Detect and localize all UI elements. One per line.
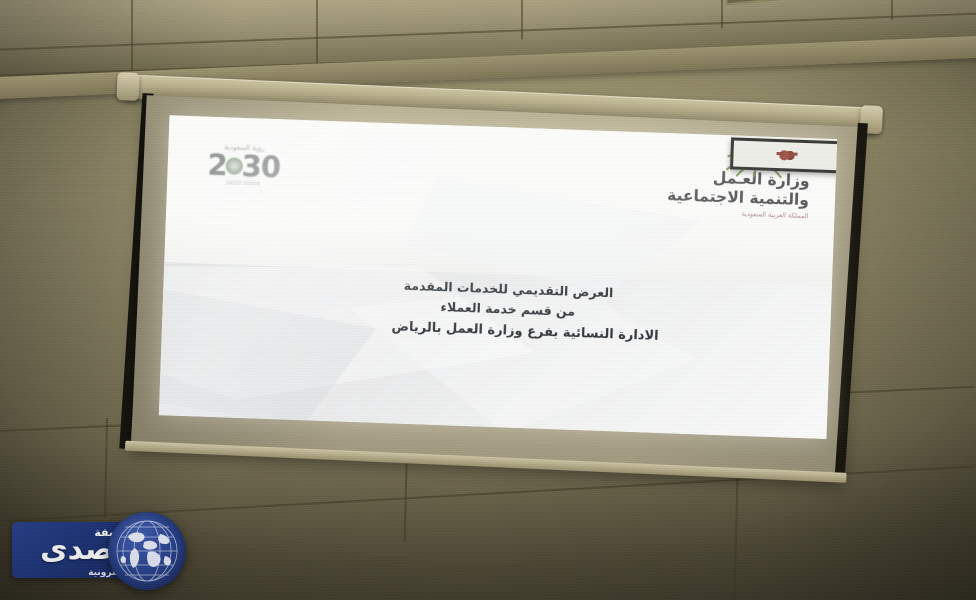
vision-logo-number: 2 30 — [189, 151, 298, 182]
palm-emblem-icon — [779, 149, 794, 162]
vision-2030-logo: رؤية السعودية 2 30 SAUDI VISION — [189, 142, 298, 189]
ceiling-tile-seam — [721, 0, 723, 28]
ceiling-tile-seam — [316, 0, 318, 71]
ceiling-tile-seam — [521, 0, 523, 39]
ceiling-tile-seam — [891, 0, 893, 20]
photo-stage: رؤية السعودية 2 30 SAUDI VISION — [0, 0, 976, 600]
ministry-name-line2: والتنمية الاجتماعية — [667, 186, 809, 210]
projector-osd-box[interactable] — [730, 137, 837, 173]
roller-end-cap-left — [116, 72, 139, 101]
vision-palm-icon — [225, 158, 243, 176]
globe-icon — [108, 512, 186, 590]
sada-newspaper-watermark: صحيفة صدى الإلكترونية — [8, 508, 192, 592]
vision-digit-30: 30 — [241, 152, 280, 180]
ministry-logo-lockup: وزارة العـمل والتنمية الاجتماعية المملكة… — [666, 167, 809, 220]
vision-digit-2: 2 — [207, 151, 227, 178]
projected-slide: رؤية السعودية 2 30 SAUDI VISION — [159, 115, 837, 439]
projector-screen[interactable]: رؤية السعودية 2 30 SAUDI VISION — [101, 66, 888, 490]
